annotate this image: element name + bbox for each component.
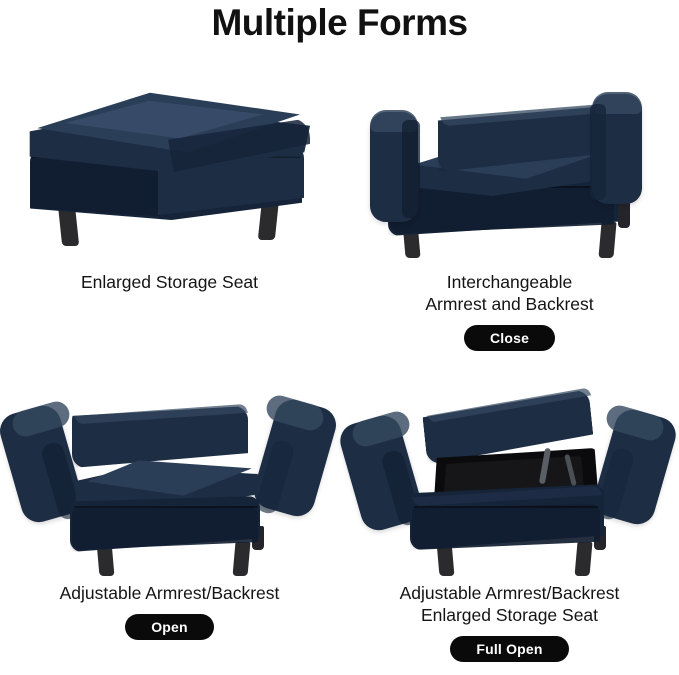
chair-full-open-figure [340,378,679,576]
armchair-leg-front-right [598,222,616,258]
caption-line-1: Enlarged Storage Seat [0,271,339,293]
badge-panel-3: Open [125,614,214,640]
caption-adjustable-storage: Adjustable Armrest/Backrest Enlarged Sto… [340,582,679,626]
chair-open-base-seam [74,506,258,508]
ottoman-figure [0,50,339,265]
chair-open-figure [0,378,339,576]
chair-full-open-base-seam [414,506,598,508]
chair-open-illustration [6,384,332,576]
caption-line-2: Enlarged Storage Seat [340,604,679,626]
badge-panel-2: Close [464,325,555,351]
caption-line-1: Adjustable Armrest/Backrest [0,582,339,604]
panel-interchangeable-armrest-backrest: Interchangeable Armrest and Backrest Clo… [340,50,679,351]
badge-slot-panel-2: Close [340,325,679,351]
chair-open-leg-front-right [233,542,251,576]
product-feature-sheet: Multiple Forms [0,0,679,675]
chair-open-base-front [72,506,258,550]
caption-adjustable: Adjustable Armrest/Backrest [0,582,339,604]
panel-enlarged-storage-seat: Enlarged Storage Seat [0,50,339,321]
badge-panel-4: Full Open [450,636,568,662]
ottoman-illustration [18,60,318,265]
caption-line-1: Adjustable Armrest/Backrest [340,582,679,604]
armchair-armrest-right-inner [590,104,606,200]
chair-full-open-base-front [412,504,600,550]
armchair-closed-figure [340,50,679,265]
armchair-armrest-left-inner [402,120,420,218]
caption-line-1: Interchangeable [340,271,679,293]
badge-slot-panel-4: Full Open [340,636,679,662]
page-title: Multiple Forms [0,2,679,44]
armchair-closed-illustration [368,54,658,265]
chair-full-open-illustration [346,384,672,576]
badge-slot-panel-3: Open [0,614,339,640]
caption-enlarged-storage-seat: Enlarged Storage Seat [0,271,339,293]
armchair-leg-back-right [618,202,630,228]
panel-adjustable-storage: Adjustable Armrest/Backrest Enlarged Sto… [340,378,679,662]
caption-interchangeable: Interchangeable Armrest and Backrest [340,271,679,315]
panel-adjustable-armrest-backrest: Adjustable Armrest/Backrest Open [0,378,339,640]
caption-line-2: Armrest and Backrest [340,293,679,315]
chair-full-open-leg-front-right [575,542,593,576]
